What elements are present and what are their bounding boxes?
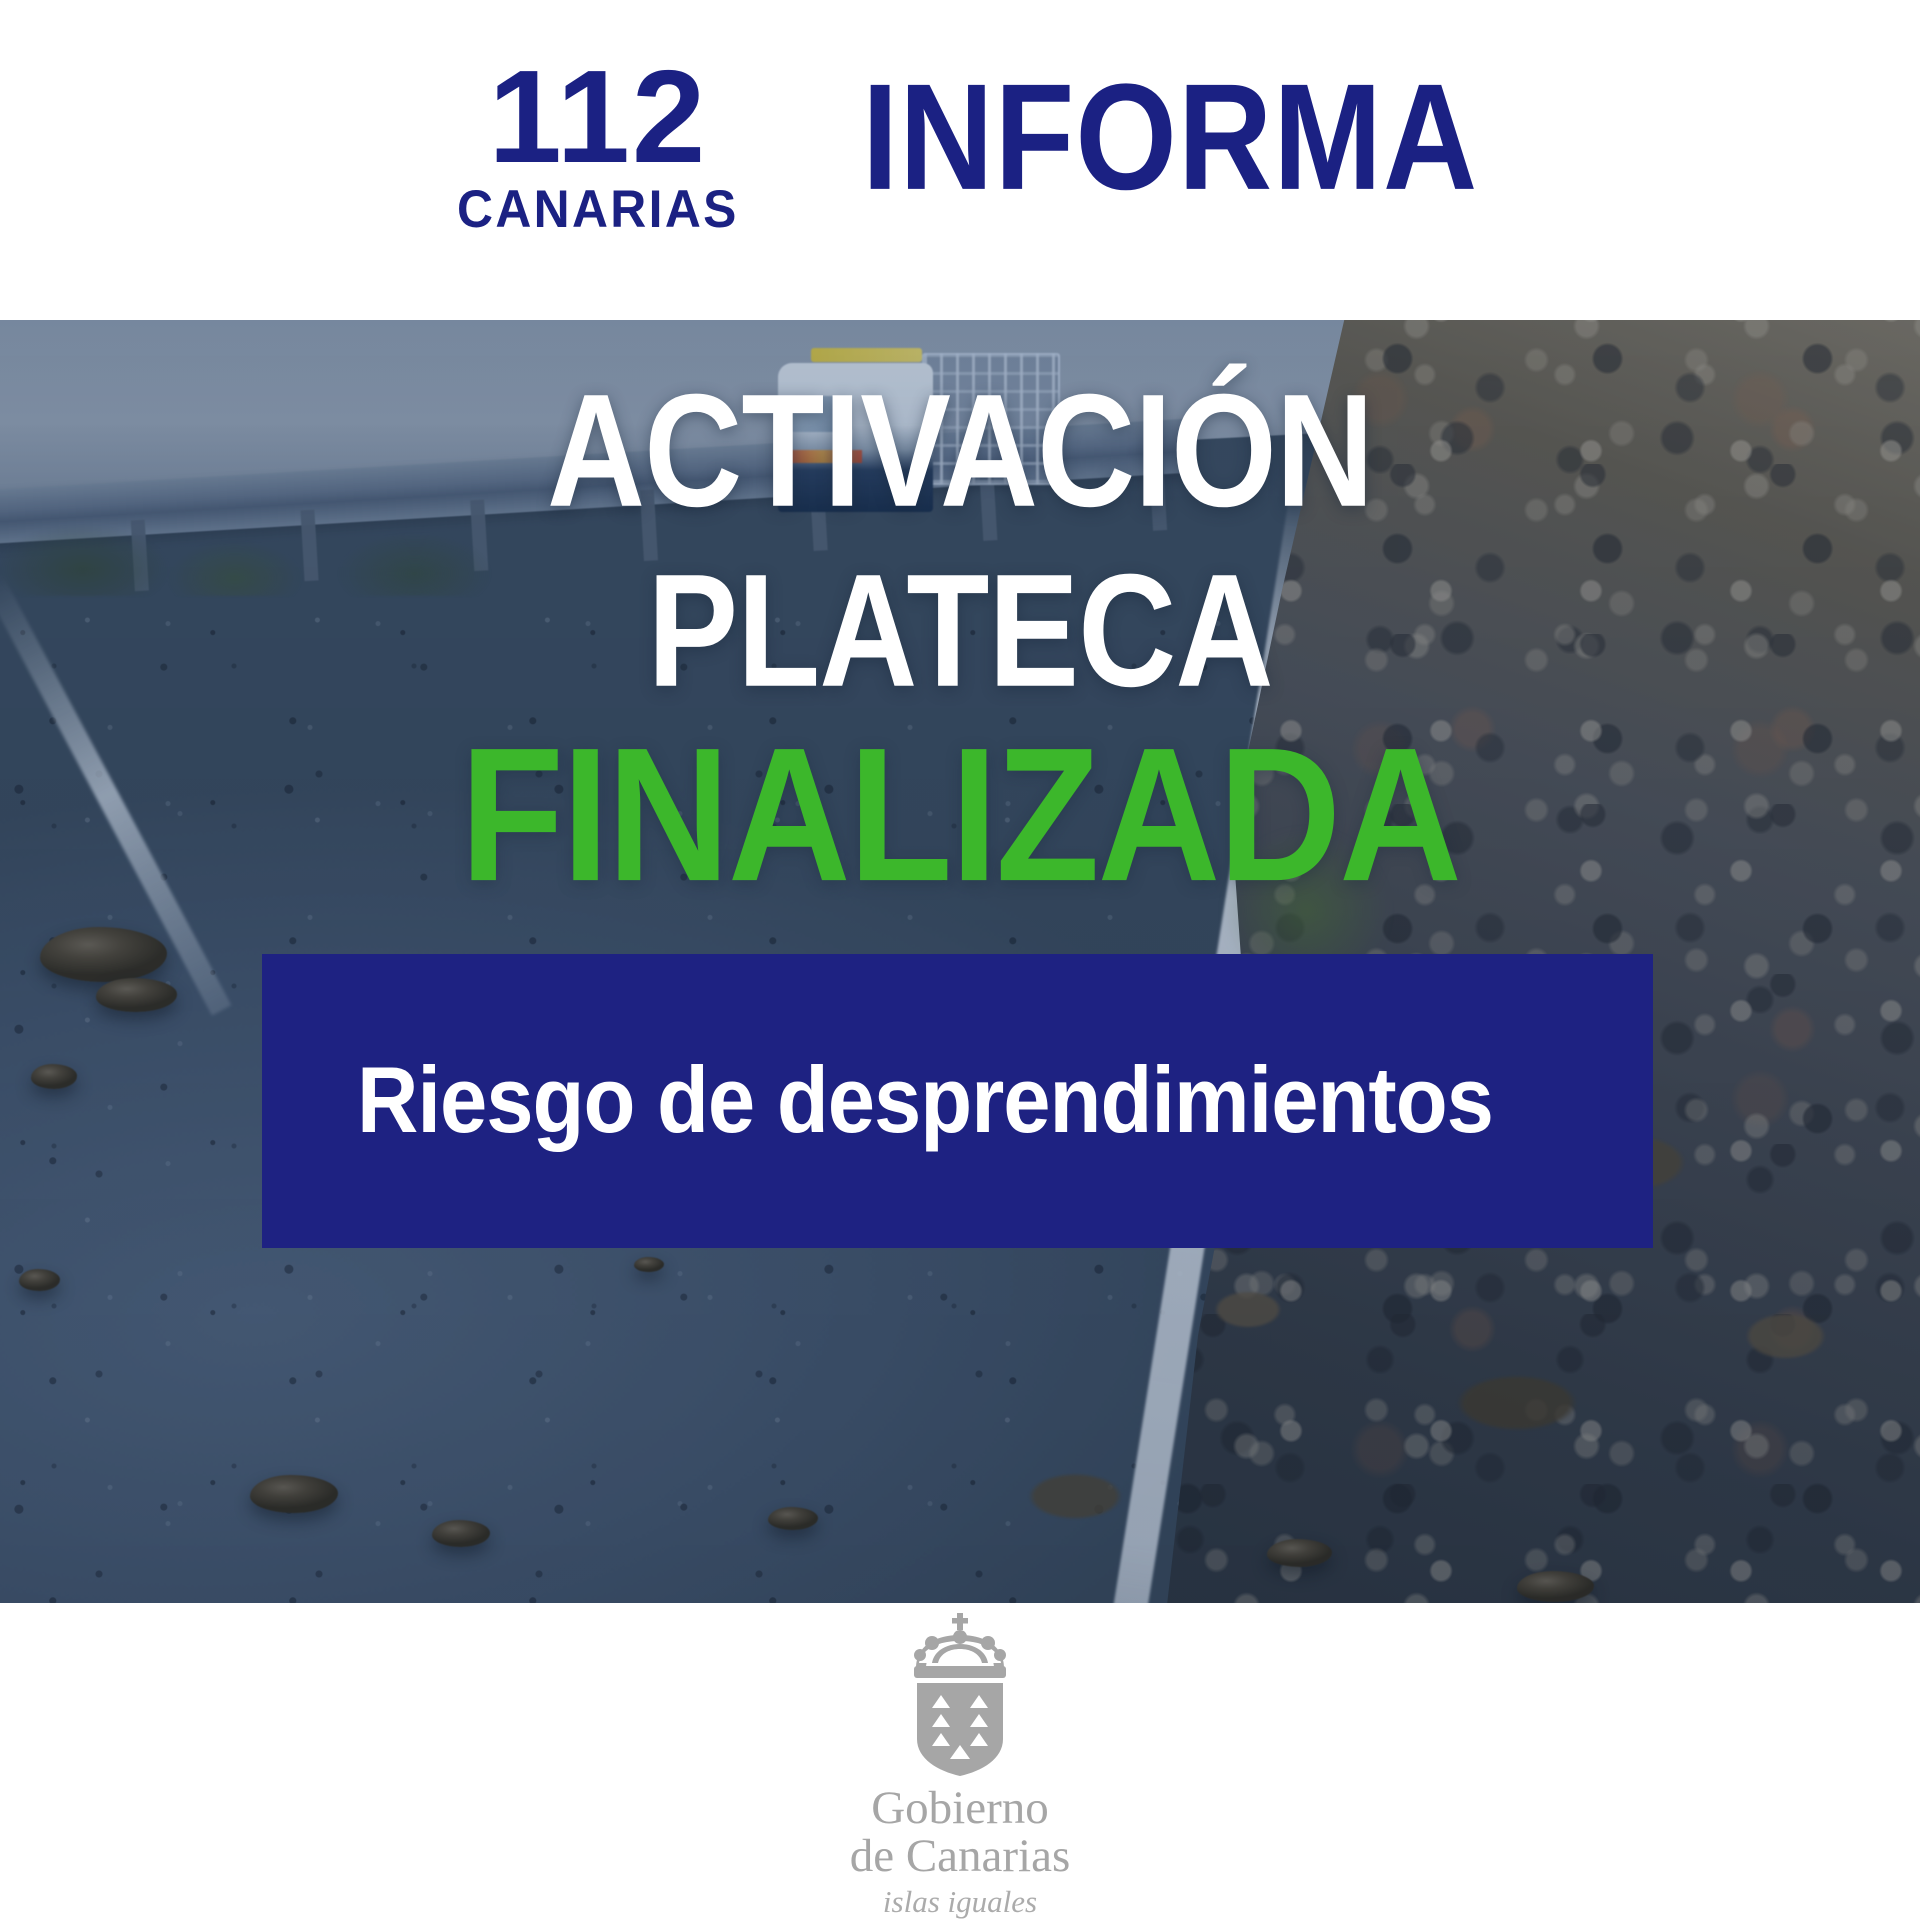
gov-logo-line-1: Gobierno	[850, 1785, 1071, 1833]
header-bar: 112 CANARIAS INFORMA	[0, 0, 1920, 320]
alert-title-line-1: ACTIVACIÓN	[0, 370, 1920, 530]
alert-title-line-2: PLATECA	[0, 550, 1920, 710]
logo-number-112: 112	[488, 54, 707, 179]
logo-112-canarias: 112 CANARIAS	[448, 54, 748, 236]
canary-islands-crest-icon	[886, 1611, 1034, 1779]
logo-region-canarias: CANARIAS	[457, 183, 739, 236]
footer-bar: Gobierno de Canarias islas iguales	[0, 1603, 1920, 1920]
header-headline-informa: INFORMA	[862, 50, 1478, 223]
hero-photo: ACTIVACIÓN PLATECA FINALIZADA Riesgo de …	[0, 320, 1920, 1603]
gov-logo-tagline: islas iguales	[883, 1886, 1037, 1917]
alert-overlay: ACTIVACIÓN PLATECA FINALIZADA Riesgo de …	[0, 320, 1920, 1603]
alert-banner: Riesgo de desprendimientos	[262, 954, 1653, 1248]
gobierno-de-canarias-logo: Gobierno de Canarias islas iguales	[850, 1611, 1071, 1917]
gov-logo-text: Gobierno de Canarias	[850, 1785, 1071, 1881]
alert-banner-text: Riesgo de desprendimientos	[262, 1047, 1493, 1155]
alert-status-badge: FINALIZADA	[0, 720, 1920, 910]
gov-logo-line-2: de Canarias	[850, 1833, 1071, 1881]
